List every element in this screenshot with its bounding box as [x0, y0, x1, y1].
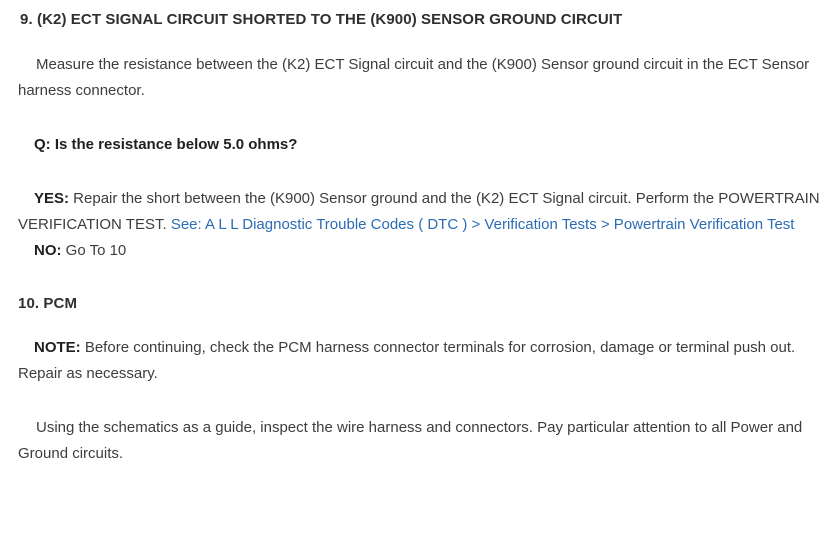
step-9-question-text: Q: Is the resistance below 5.0 ohms? — [34, 136, 297, 153]
yes-label: YES: — [34, 190, 69, 207]
note-text: Before continuing, check the PCM harness… — [18, 339, 795, 382]
spacer — [18, 104, 831, 132]
step-9-yes-answer: YES: Repair the short between the (K900)… — [18, 186, 830, 238]
step-9-heading: 9. (K2) ECT SIGNAL CIRCUIT SHORTED TO TH… — [20, 10, 831, 30]
no-label: NO: — [34, 242, 62, 259]
step-10-note: NOTE: Before continuing, check the PCM h… — [18, 335, 830, 387]
step-10-heading: 10. PCM — [18, 294, 831, 314]
step-9-no-answer: NO: Go To 10 — [18, 238, 830, 264]
spacer — [18, 158, 831, 186]
spacer — [18, 387, 831, 415]
document-viewport: 9. (K2) ECT SIGNAL CIRCUIT SHORTED TO TH… — [0, 0, 831, 535]
document-content: 9. (K2) ECT SIGNAL CIRCUIT SHORTED TO TH… — [0, 0, 831, 467]
spacer — [18, 30, 831, 52]
powertrain-verification-test-link[interactable]: See: A L L Diagnostic Trouble Codes ( DT… — [171, 216, 795, 233]
step-10-instruction: Using the schematics as a guide, inspect… — [18, 415, 830, 467]
step-9-question: Q: Is the resistance below 5.0 ohms? — [18, 132, 830, 158]
note-label: NOTE: — [34, 339, 81, 356]
step-9-instruction: Measure the resistance between the (K2) … — [18, 52, 830, 104]
spacer — [18, 264, 831, 294]
no-text: Go To 10 — [62, 242, 127, 259]
spacer — [18, 313, 831, 335]
